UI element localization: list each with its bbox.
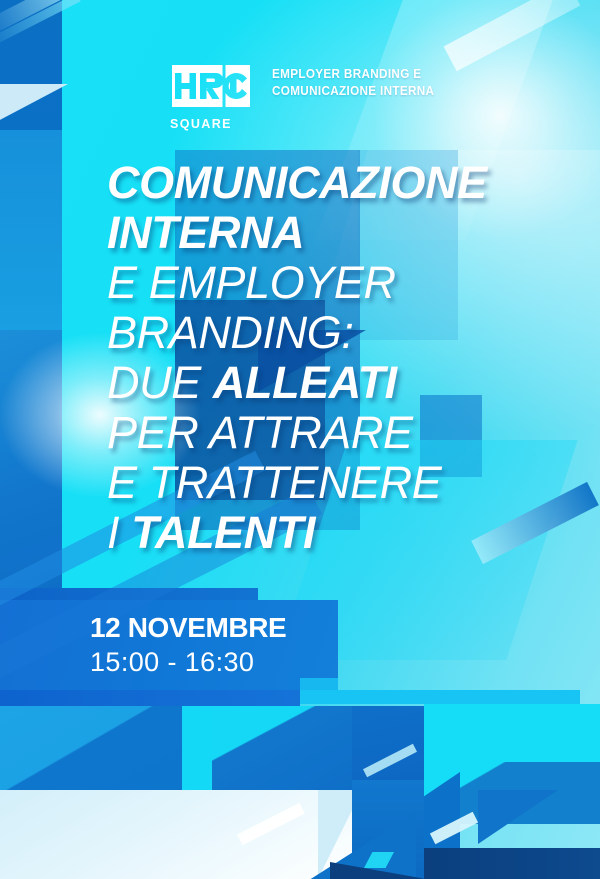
header-tagline: EMPLOYER BRANDING E COMUNICAZIONE INTERN… <box>272 66 434 99</box>
headline-line-6: PER ATTRARE <box>107 408 537 458</box>
event-time: 15:00 - 16:30 <box>90 645 286 679</box>
headline-line-5: DUE ALLEATI <box>107 358 537 408</box>
headline-line-4: BRANDING: <box>107 308 537 358</box>
headline-line-1: COMUNICAZIONE <box>107 158 537 208</box>
headline-line-8: I TALENTI <box>107 508 537 558</box>
headline-line-7: E TRATTENERE <box>107 458 537 508</box>
logo-square-label: SQUARE <box>170 117 256 131</box>
headline-line-3: E EMPLOYER <box>107 258 537 308</box>
headline-line-8-prefix: I <box>107 507 131 558</box>
event-date: 12 NOVEMBRE <box>90 611 286 645</box>
bottom-panel-1-diagonal <box>0 706 182 790</box>
bottom-panel-2 <box>182 706 212 790</box>
logo-block: SQUARE <box>166 62 256 131</box>
tagline-line-2: COMUNICAZIONE INTERNA <box>272 83 434 100</box>
bottom-wedge-cyan <box>478 790 558 844</box>
poster-header: SQUARE EMPLOYER BRANDING E COMUNICAZIONE… <box>166 62 447 131</box>
left-pale-triangle <box>0 84 68 122</box>
bottom-navy-bar <box>424 848 600 879</box>
bottom-navy-triangle <box>330 862 426 879</box>
hrc-square-logo-icon <box>166 62 256 110</box>
headline-line-5-prefix: DUE <box>107 357 213 408</box>
headline-line-2: INTERNA <box>107 208 537 258</box>
page-title: COMUNICAZIONE INTERNA E EMPLOYER BRANDIN… <box>107 158 537 558</box>
event-datetime: 12 NOVEMBRE 15:00 - 16:30 <box>90 611 286 679</box>
bottom-strip-cyan <box>300 690 580 704</box>
headline-line-8-emphasis: TALENTI <box>131 507 315 558</box>
event-poster: SQUARE EMPLOYER BRANDING E COMUNICAZIONE… <box>0 0 600 879</box>
bottom-strip-blue <box>0 690 300 706</box>
headline-line-5-emphasis: ALLEATI <box>213 357 397 408</box>
tagline-line-1: EMPLOYER BRANDING E <box>272 66 434 83</box>
